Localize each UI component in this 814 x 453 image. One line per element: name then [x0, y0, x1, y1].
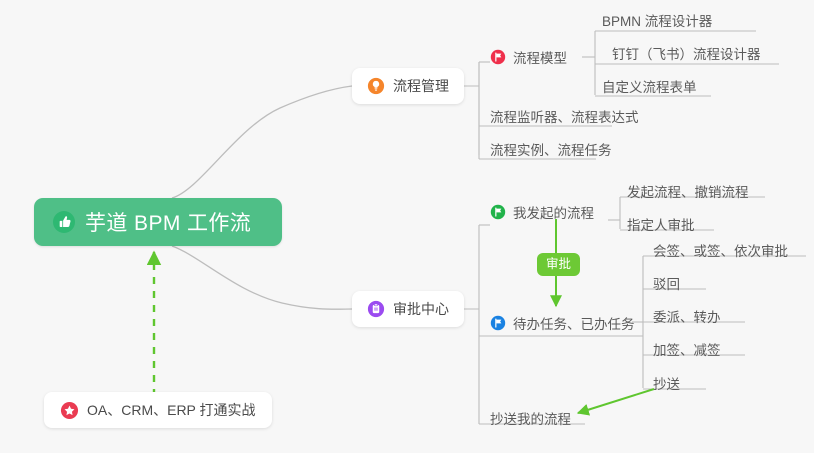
node-process-listener[interactable]: 流程监听器、流程表达式: [490, 106, 639, 129]
leaf-label-start-cancel-process: 发起流程、撤销流程: [627, 181, 749, 201]
leaf-start-cancel-process[interactable]: 发起流程、撤销流程: [627, 181, 749, 204]
flag-icon: [490, 315, 506, 331]
leaf-label-cc: 抄送: [653, 373, 680, 393]
node-label-process-instance: 流程实例、流程任务: [490, 139, 612, 159]
node-process-instance[interactable]: 流程实例、流程任务: [490, 139, 612, 162]
leaf-label-delegate-transfer: 委派、转办: [653, 306, 721, 326]
leaf-cc[interactable]: 抄送: [653, 373, 680, 396]
node-label-process-listener: 流程监听器、流程表达式: [490, 106, 639, 126]
node-todo-done-tasks[interactable]: 待办任务、已办任务: [490, 313, 635, 336]
leaf-custom-form[interactable]: 自定义流程表单: [602, 76, 697, 99]
node-label-cc-to-me: 抄送我的流程: [490, 408, 571, 428]
leaf-bpmn-designer[interactable]: BPMN 流程设计器: [602, 10, 712, 33]
leaf-label-reject: 驳回: [653, 273, 680, 293]
branch-node-approval-center[interactable]: 审批中心: [352, 291, 464, 327]
leaf-dingtalk-designer[interactable]: 钉钉（飞书）流程设计器: [612, 43, 761, 66]
leaf-label-countersign: 会签、或签、依次审批: [653, 240, 788, 260]
flag-icon: [490, 49, 506, 65]
star-badge-icon: [60, 401, 79, 420]
mindmap-canvas: 芋道 BPM 工作流 流程管理 流程模型 BPMN 流程设计器 钉钉（飞书: [0, 0, 814, 453]
node-label-process-model: 流程模型: [513, 47, 567, 67]
leaf-label-add-remove-sign: 加签、减签: [653, 339, 721, 359]
edge-root-to-process-management: [172, 86, 352, 198]
node-label-my-started-process: 我发起的流程: [513, 202, 594, 222]
node-cc-to-me[interactable]: 抄送我的流程: [490, 408, 571, 431]
flag-icon: [490, 204, 506, 220]
clipboard-icon: [367, 300, 385, 318]
branch-label-approval-center: 审批中心: [393, 299, 449, 319]
thumbs-up-icon: [52, 210, 76, 234]
floating-node-label-integration: OA、CRM、ERP 打通实战: [87, 400, 256, 420]
root-node[interactable]: 芋道 BPM 工作流: [34, 198, 282, 246]
floating-node-integration[interactable]: OA、CRM、ERP 打通实战: [44, 392, 272, 428]
branch-node-process-management[interactable]: 流程管理: [352, 68, 464, 104]
leaf-countersign[interactable]: 会签、或签、依次审批: [653, 240, 788, 263]
leaf-label-dingtalk-designer: 钉钉（飞书）流程设计器: [612, 43, 761, 63]
leaf-reject[interactable]: 驳回: [653, 273, 680, 296]
lightbulb-icon: [367, 77, 385, 95]
edge-root-to-approval-center: [172, 246, 352, 309]
branch-label-process-management: 流程管理: [393, 76, 449, 96]
leaf-label-custom-form: 自定义流程表单: [602, 76, 697, 96]
leaf-delegate-transfer[interactable]: 委派、转办: [653, 306, 721, 329]
cc-link-arrow: [578, 389, 654, 413]
node-my-started-process[interactable]: 我发起的流程: [490, 202, 594, 225]
leaf-assignee-approval[interactable]: 指定人审批: [627, 214, 695, 237]
approval-badge[interactable]: 审批: [537, 253, 580, 276]
leaf-add-remove-sign[interactable]: 加签、减签: [653, 339, 721, 362]
leaf-label-bpmn-designer: BPMN 流程设计器: [602, 10, 712, 30]
node-label-todo-done-tasks: 待办任务、已办任务: [513, 313, 635, 333]
leaf-label-assignee-approval: 指定人审批: [627, 214, 695, 234]
root-label: 芋道 BPM 工作流: [85, 207, 251, 237]
node-process-model[interactable]: 流程模型: [490, 47, 567, 70]
